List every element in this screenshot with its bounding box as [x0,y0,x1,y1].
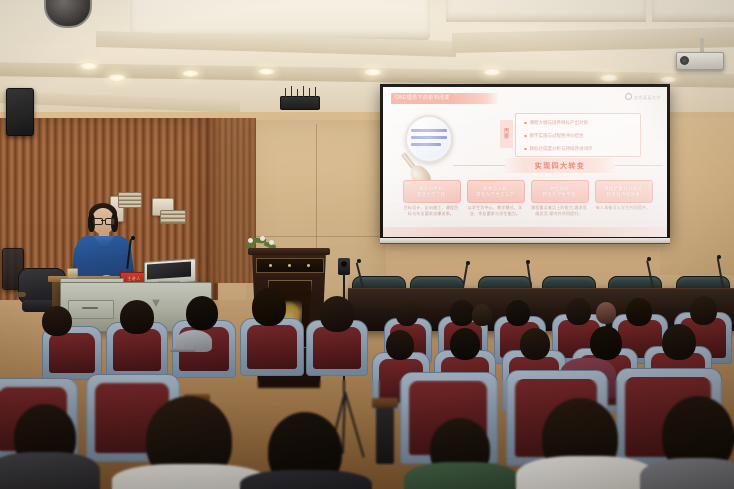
ceiling-cornice-left [0,91,240,113]
wood-slat-wall-right [214,118,256,283]
card-line-1: 教师怎么教, [483,186,509,191]
card-line-1: 讲完就好, [550,186,571,191]
slide-title: OBE理念下的影响改变 [395,94,450,101]
card-line-2: 转变为学生怎么学, [476,192,516,197]
audience-shoulders [240,470,372,489]
audience-head [596,302,616,324]
section-rule-right [615,165,663,166]
microphone-head-icon [647,257,651,261]
bullet-item: 教学实施与过程性评价结合 [524,133,584,139]
section-rule-left [453,165,505,166]
audience-head [450,328,480,360]
bullet-dot-icon [524,122,527,125]
dome-camera-icon [44,0,92,28]
section-heading-text: 实现四大转变 [535,161,585,171]
wall-speaker-left-upper [6,88,34,136]
transformation-card: 教的好不好, 转变为学了啥, [403,180,461,203]
audience-head [690,296,717,325]
name-placard-text: 主讲人 [127,276,141,282]
microphone-head-icon [466,261,470,265]
bullet-text: 目标达成度分析与持续改进闭环 [530,146,593,152]
audience-head [506,300,530,326]
audience-head [472,304,492,326]
audience-head [252,288,286,326]
card-line-1: 教的好不好, [419,186,445,191]
camera-lens-icon [341,261,347,267]
bullet-item: 目标达成度分析与持续改进闭环 [524,146,593,152]
slide-logo-text: 北京某某大学 [634,95,661,100]
audience-head [396,302,418,326]
audience-head [450,300,474,326]
microphone-head-icon [717,255,721,259]
card-description: 每人具备可与学生共同提升。 [595,205,651,211]
bullet-dot-icon [524,135,527,138]
card-line-2: 转变为学生学会, [542,192,577,197]
cap-brim [170,348,196,352]
bullet-text: 课程大纲与培养目标产出对接 [530,120,589,126]
drawer-handle[interactable] [82,307,98,309]
audience-shoulders [640,458,734,489]
audience-chair[interactable] [240,318,304,376]
cable-rack [280,96,320,110]
audience-head [590,326,622,360]
downlight-1 [80,62,98,70]
audience-head [42,306,72,336]
card-line-1: 课程结束打分就好, [604,186,644,191]
audience-head [186,296,218,330]
card-line-2: 转变为持续改进, [606,192,641,197]
card-description: 目标设计、反向施工、课程目标与毕业要求支撑关系。 [403,205,459,217]
audience-shoulders [0,452,100,489]
callout-tag: 用 要 [500,120,513,148]
microphone-head-icon [357,259,361,263]
callout-tag-line-1: 用 [504,129,509,134]
audience-head [566,298,591,325]
monitor-screen [147,261,191,279]
callout-tag-line-2: 要 [504,135,509,140]
screen-bottom-rail [380,238,670,244]
console-drawer[interactable] [68,300,114,319]
downlight-3 [182,70,199,77]
slide-footer-band [383,227,667,237]
downlight-4 [258,68,275,75]
section-heading: 实现四大转变 [505,158,615,173]
downlight-2 [108,74,126,82]
glasses-icon [93,218,113,223]
lecture-hall-photo: OBE理念下的影响改变 北京某某大学 用 要 [0,0,734,489]
air-vent-icon-2 [160,210,186,224]
transformation-card: 教师怎么教, 转变为学生怎么学, [467,180,525,203]
ceiling-coffer-3 [652,0,734,22]
ceiling-coffer-2 [446,0,646,22]
downlight-7 [600,74,618,82]
ceiling-band-2 [452,27,734,53]
audience-head [520,328,550,360]
downlight-8 [660,76,676,83]
slide-canvas: OBE理念下的影响改变 北京某某大学 用 要 [383,87,667,237]
audience-head [626,298,652,326]
microphone-head-icon [131,236,135,240]
bullet-text: 教学实施与过程性评价结合 [530,133,584,139]
office-chair-arm [14,292,26,297]
card-description: 课程重点难点上的能力,激发思维灵活,课内外共同提升。 [531,205,587,217]
card-description: 以学生为中心、教学模式、学业、毕业要求与学生能力。 [467,205,523,217]
chair-arm [376,404,394,464]
magnifying-glass-icon [405,115,453,163]
bullet-callout-box: 用 要 课程大纲与培养目标产出对接 教学实施与过程性评价结合 目标达成度分析与持… [515,113,641,157]
transformation-card: 课程结束打分就好, 转变为持续改进, [595,180,653,203]
audience-shoulders [516,456,656,489]
audience-head [386,330,414,360]
projection-screen: OBE理念下的影响改变 北京某某大学 用 要 [380,84,670,240]
card-line-2: 转变为学了啥, [417,192,447,197]
podium-top [248,248,330,255]
chair-arm-top [372,398,398,408]
microphone-head-icon [526,260,530,264]
projector-lens-icon [680,56,689,65]
downlight-6 [483,68,501,76]
transformation-card: 讲完就好, 转变为学生学会, [531,180,589,203]
downlight-5 [364,68,382,76]
bullet-item: 课程大纲与培养目标产出对接 [524,120,588,126]
podium-band [256,258,324,273]
university-seal-icon: 北京某某大学 [625,93,661,101]
bullet-dot-icon [524,148,527,151]
audience-head [120,300,154,334]
audience-head [320,296,354,332]
air-vent-icon [118,192,142,208]
audience-head [662,324,696,360]
audience-shoulders [404,462,520,489]
